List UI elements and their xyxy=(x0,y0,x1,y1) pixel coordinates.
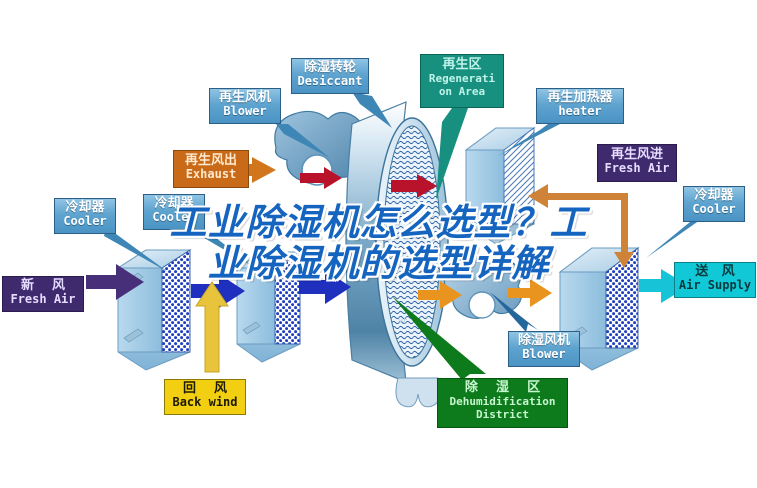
label-regeneration-fresh-air[interactable]: 再生风进 Fresh Air xyxy=(597,144,677,182)
label-cn: 除 湿 区 xyxy=(438,381,567,395)
label-cn: 冷却器 xyxy=(684,189,744,203)
title-line-2: 业除湿机的选型详解 xyxy=(0,243,757,284)
label-en: Blower xyxy=(509,348,579,361)
label-cn: 再生区 xyxy=(421,58,503,72)
label-cn: 再生加热器 xyxy=(537,91,623,105)
label-regeneration-heater[interactable]: 再生加热器 heater xyxy=(536,88,624,124)
label-regeneration-blower[interactable]: 再生风机 Blower xyxy=(209,88,281,124)
label-en: Dehumidification District xyxy=(438,395,567,421)
label-en: heater xyxy=(537,105,623,118)
label-dehumidification-blower[interactable]: 除湿风机 Blower xyxy=(508,331,580,367)
label-en: Exhaust xyxy=(174,168,248,181)
label-regeneration-exhaust[interactable]: 再生风出 Exhaust xyxy=(173,150,249,188)
label-regeneration-area[interactable]: 再生区 Regenerati on Area xyxy=(420,54,504,108)
label-cn: 除湿转轮 xyxy=(292,61,368,75)
diagram-canvas: xt xyxy=(0,0,757,488)
label-cn: 除湿风机 xyxy=(509,334,579,348)
label-en: Regenerati on Area xyxy=(421,72,503,100)
label-en: Fresh Air xyxy=(3,293,83,306)
label-cn: 回 风 xyxy=(165,382,245,396)
label-cn: 再生风机 xyxy=(210,91,280,105)
label-cn: 再生风进 xyxy=(598,148,676,162)
label-en: Fresh Air xyxy=(598,162,676,175)
title-line-1: 工业除湿机怎么选型？工 xyxy=(0,202,757,243)
title-overlay: 工业除湿机怎么选型？工 业除湿机的选型详解 xyxy=(0,202,757,284)
label-en: Blower xyxy=(210,105,280,118)
label-back-wind[interactable]: 回 风 Back wind xyxy=(164,379,246,415)
label-dehumidification-district[interactable]: 除 湿 区 Dehumidification District xyxy=(437,378,568,428)
label-en: Back wind xyxy=(165,396,245,409)
label-en: Desiccant xyxy=(292,75,368,88)
svg-text:xt: xt xyxy=(398,317,407,327)
label-cn: 再生风出 xyxy=(174,154,248,168)
label-desiccant-wheel[interactable]: 除湿转轮 Desiccant xyxy=(291,58,369,94)
